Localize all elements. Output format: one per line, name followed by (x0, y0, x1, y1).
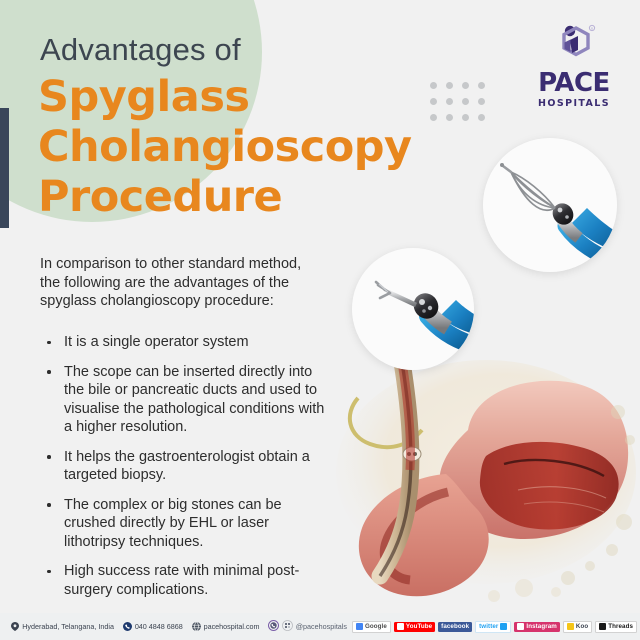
social-badge-google[interactable]: Google (352, 621, 391, 633)
footer-location: Hyderabad, Telangana, India (11, 622, 114, 631)
brand-logo: R PACE HOSPITALS (526, 22, 622, 109)
social-badge-google-label: Google (365, 623, 387, 630)
social-badge-facebook[interactable]: facebook (438, 622, 472, 632)
logo-subtitle: HOSPITALS (526, 98, 622, 109)
footer-website-text: pacehospital.com (204, 622, 260, 631)
title-line-1: Spyglass (38, 72, 478, 122)
list-item: It is a single operator system (40, 333, 330, 352)
social-badge-twitter[interactable]: twitter (475, 621, 511, 633)
social-badge-instagram-label: Instagram (526, 623, 556, 630)
retrieval-basket-catheter-photo (483, 138, 617, 272)
stomach-duodenum-endoscope-illustration (318, 352, 640, 604)
footer-social-handle: @pacehospitals (296, 622, 347, 631)
social-badge-threads[interactable]: Threads (595, 621, 637, 633)
social-badge-twitter-label: twitter (479, 623, 498, 630)
list-item: High success rate with minimal post-surg… (40, 562, 330, 599)
whatsapp-icon[interactable] (268, 618, 279, 636)
page-title: Spyglass Cholangioscopy Procedure (38, 72, 478, 222)
phone-icon (123, 622, 132, 631)
social-badge-threads-label: Threads (608, 623, 633, 630)
globe-icon (192, 622, 201, 631)
hexagon-person-icon: R (526, 22, 622, 70)
footer-website[interactable]: pacehospital.com (192, 622, 260, 631)
footer-location-text: Hyderabad, Telangana, India (22, 622, 114, 631)
intro-paragraph: In comparison to other standard method, … (40, 255, 308, 311)
list-item: The complex or big stones can be crushed… (40, 496, 330, 552)
map-pin-icon (11, 622, 19, 631)
social-badge-youtube-label: YouTube (406, 623, 432, 630)
logo-wordmark: PACE (526, 70, 622, 96)
endoscope-tip-biopsy-forceps-photo (352, 248, 474, 370)
navy-accent-bar (0, 108, 9, 228)
footer-phone-text: 040 4848 6868 (135, 622, 183, 631)
list-item: The scope can be inserted directly into … (40, 363, 330, 437)
social-badge-instagram[interactable]: Instagram (514, 622, 559, 632)
qr-code-icon[interactable] (282, 618, 293, 636)
list-item: It helps the gastroenterologist obtain a… (40, 448, 330, 485)
title-line-2: Cholangioscopy (38, 122, 478, 172)
footer-bar: Hyderabad, Telangana, India 040 4848 686… (0, 613, 640, 640)
page-kicker: Advantages of (40, 32, 241, 68)
poster-canvas: Advantages of Spyglass Cholangioscopy Pr… (0, 0, 640, 640)
title-line-3: Procedure (38, 172, 478, 222)
social-badge-youtube[interactable]: YouTube (394, 622, 435, 632)
advantages-list: It is a single operator system The scope… (40, 333, 330, 610)
social-badge-facebook-label: facebook (441, 623, 469, 630)
social-badge-koo-label: Koo (576, 623, 588, 630)
footer-phone[interactable]: 040 4848 6868 (123, 622, 183, 631)
social-badge-koo[interactable]: Koo (563, 621, 592, 633)
